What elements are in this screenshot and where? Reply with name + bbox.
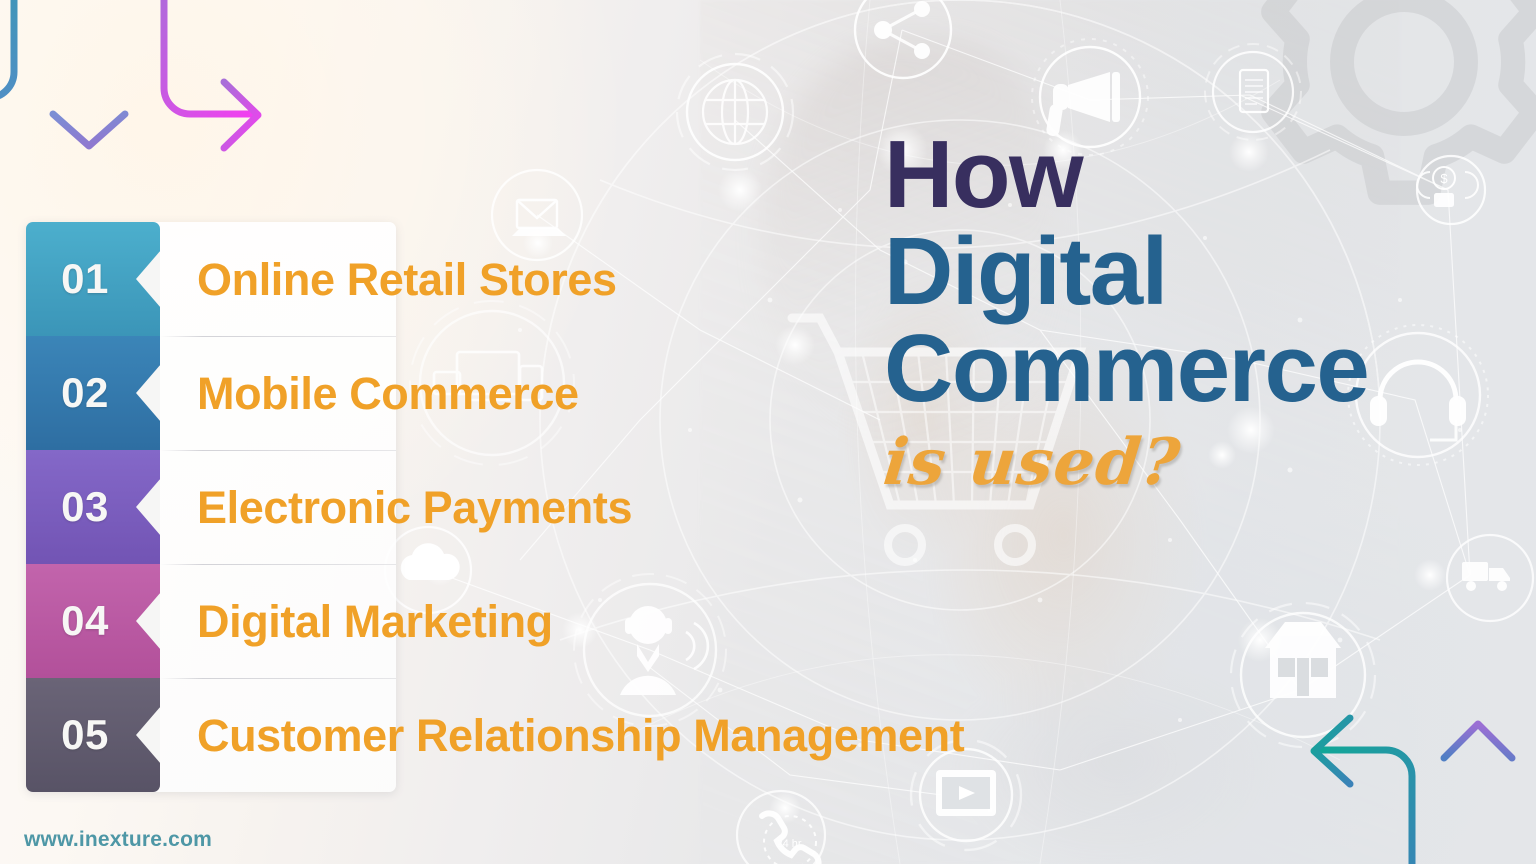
site-url[interactable]: www.inexture.com [24, 828, 212, 852]
list-item[interactable]: 04 Digital Marketing [26, 564, 1161, 678]
storefront-icon [1231, 603, 1375, 747]
purple-up-arrow-bottom [1444, 724, 1512, 864]
list-item-number: 03 [61, 483, 109, 531]
list-item-number: 01 [61, 255, 109, 303]
phone-badge-text: 24 hr [776, 838, 801, 850]
phone-24hr-icon: 24 hr [737, 791, 825, 864]
list-item-number: 04 [61, 597, 109, 645]
infographic-canvas: $ [0, 0, 1536, 864]
headline-line-2: Digital [884, 225, 1524, 318]
list-item-number-block: 05 [26, 678, 160, 792]
headline-block: How Digital Commerce is used? [884, 128, 1524, 500]
headline-script-subtitle: is used? [880, 425, 1528, 500]
magenta-right-arrow [164, 0, 258, 148]
list-item-label: Customer Relationship Management [160, 713, 1161, 758]
share-network-icon [855, 0, 951, 78]
list-item-number: 02 [61, 369, 109, 417]
headline-line-1: How [884, 128, 1524, 221]
teal-curve-top-left [0, 0, 14, 98]
headline-line-3: Commerce [884, 322, 1524, 415]
teal-left-arrow-bottom [1314, 718, 1412, 864]
list-item-number-block: 01 [26, 222, 160, 336]
globe-icon [677, 54, 793, 170]
list-item-label: Digital Marketing [160, 599, 1161, 644]
list-item-number-block: 04 [26, 564, 160, 678]
delivery-truck-icon [1447, 535, 1533, 621]
list-item-number-block: 03 [26, 450, 160, 564]
purple-down-arrow [53, 0, 125, 146]
document-icon [1205, 44, 1301, 140]
list-item-number: 05 [61, 711, 109, 759]
list-item-number-block: 02 [26, 336, 160, 450]
list-item[interactable]: 05 Customer Relationship Management [26, 678, 1161, 792]
